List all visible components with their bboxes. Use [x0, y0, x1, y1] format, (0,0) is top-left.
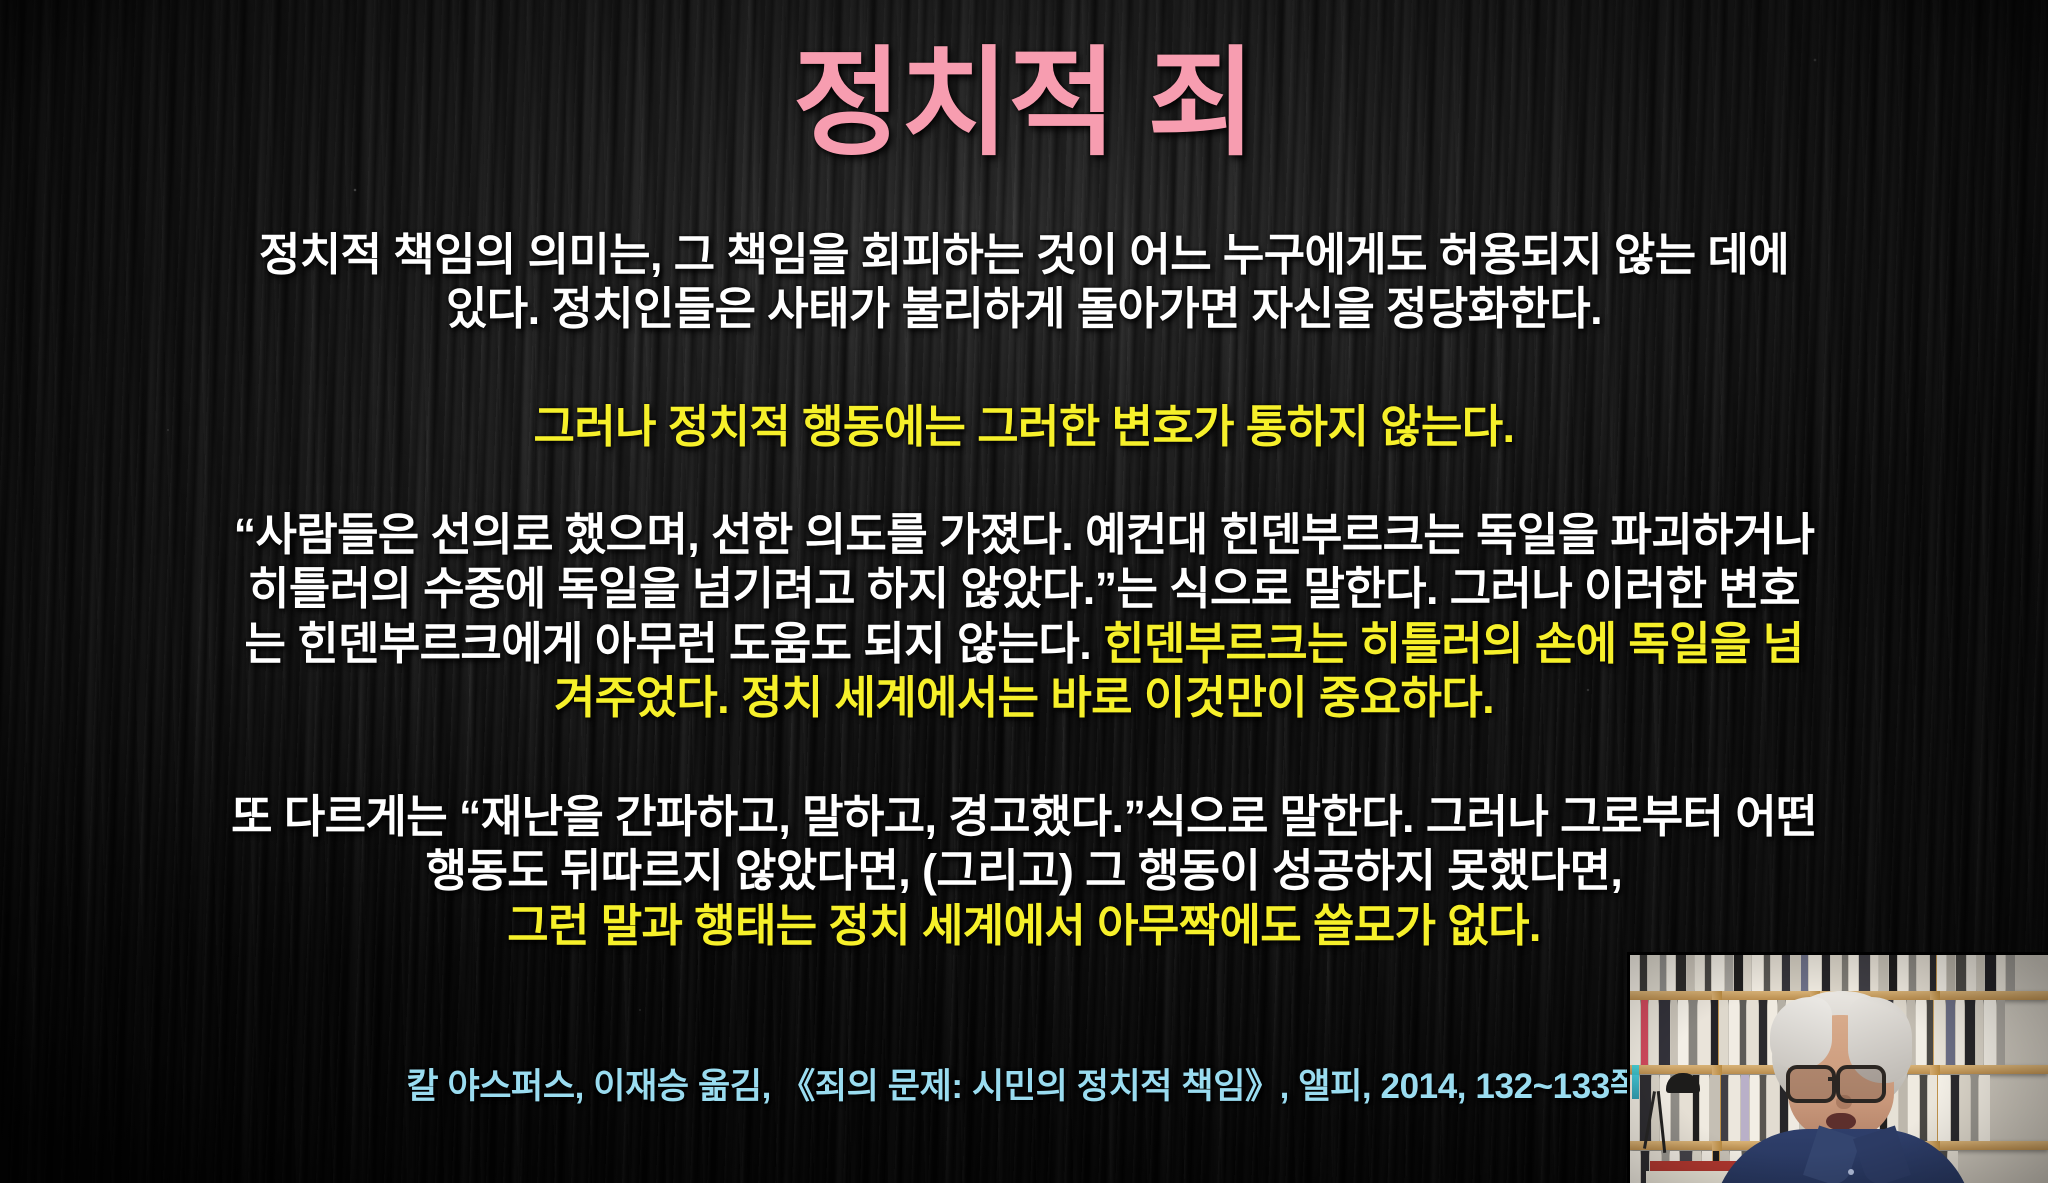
paragraph-two-line-3-plain: 는 힌덴부르크에게 아무런 도움도 되지 않는다.: [245, 618, 1104, 669]
book-row: [1630, 955, 2048, 991]
mouth: [1826, 1113, 1856, 1130]
paragraph-two-line-1: “사람들은 선의로 했으며, 선한 의도를 가졌다. 예컨대 힌덴부르크는 독일…: [72, 508, 1976, 562]
slide-title: 정치적 죄: [0, 38, 2048, 170]
presentation-slide: 정치적 죄 정치적 책임의 의미는, 그 책임을 회피하는 것이 어느 누구에게…: [0, 0, 2048, 1183]
eyeglasses-right-lens: [1836, 1065, 1886, 1103]
video-artifact: [1632, 1065, 1639, 1099]
eyeglasses-left-lens: [1786, 1065, 1836, 1103]
paragraph-three-line-1: 또 다르게는 “재난을 간파하고, 말하고, 경고했다.”식으로 말한다. 그러…: [72, 790, 1976, 844]
paragraph-one: 정치적 책임의 의미는, 그 책임을 회피하는 것이 어느 누구에게도 허용되지…: [72, 228, 1976, 337]
paragraph-three: 또 다르게는 “재난을 간파하고, 말하고, 경고했다.”식으로 말한다. 그러…: [72, 790, 1976, 953]
eyeglasses-bridge: [1828, 1077, 1838, 1081]
paragraph-two-line-4-highlight: 겨주었다. 정치 세계에서는 바로 이것만이 중요하다.: [72, 671, 1976, 725]
paragraph-one-line-1: 정치적 책임의 의미는, 그 책임을 회피하는 것이 어느 누구에게도 허용되지…: [72, 228, 1976, 282]
paragraph-one-highlight-line-1: 그러나 정치적 행동에는 그러한 변호가 통하지 않는다.: [72, 400, 1976, 454]
hair-left: [1770, 997, 1832, 1069]
paragraph-two: “사람들은 선의로 했으며, 선한 의도를 가졌다. 예컨대 힌덴부르크는 독일…: [72, 508, 1976, 726]
paragraph-one-line-2: 있다. 정치인들은 사태가 불리하게 돌아가면 자신을 정당화한다.: [72, 282, 1976, 336]
paragraph-three-line-2: 행동도 뒤따르지 않았다면, (그리고) 그 행동이 성공하지 못했다면,: [72, 844, 1976, 898]
shirt-button: [1848, 1169, 1854, 1175]
presenter-figure: [1756, 991, 1926, 1183]
paragraph-one-highlight: 그러나 정치적 행동에는 그러한 변호가 통하지 않는다.: [72, 400, 1976, 454]
paragraph-three-line-3-highlight: 그런 말과 행태는 정치 세계에서 아무짝에도 쓸모가 없다.: [72, 899, 1976, 953]
paragraph-two-line-2: 히틀러의 수중에 독일을 넘기려고 하지 않았다.”는 식으로 말한다. 그러나…: [72, 562, 1976, 616]
webcam-scene: [1630, 955, 2048, 1183]
paragraph-two-line-3: 는 힌덴부르크에게 아무런 도움도 되지 않는다. 힌덴부르크는 히틀러의 손에…: [72, 617, 1976, 671]
paragraph-two-line-3-highlight: 힌덴부르크는 히틀러의 손에 독일을 넘: [1103, 618, 1803, 669]
speaker-video-overlay[interactable]: [1627, 952, 2048, 1183]
